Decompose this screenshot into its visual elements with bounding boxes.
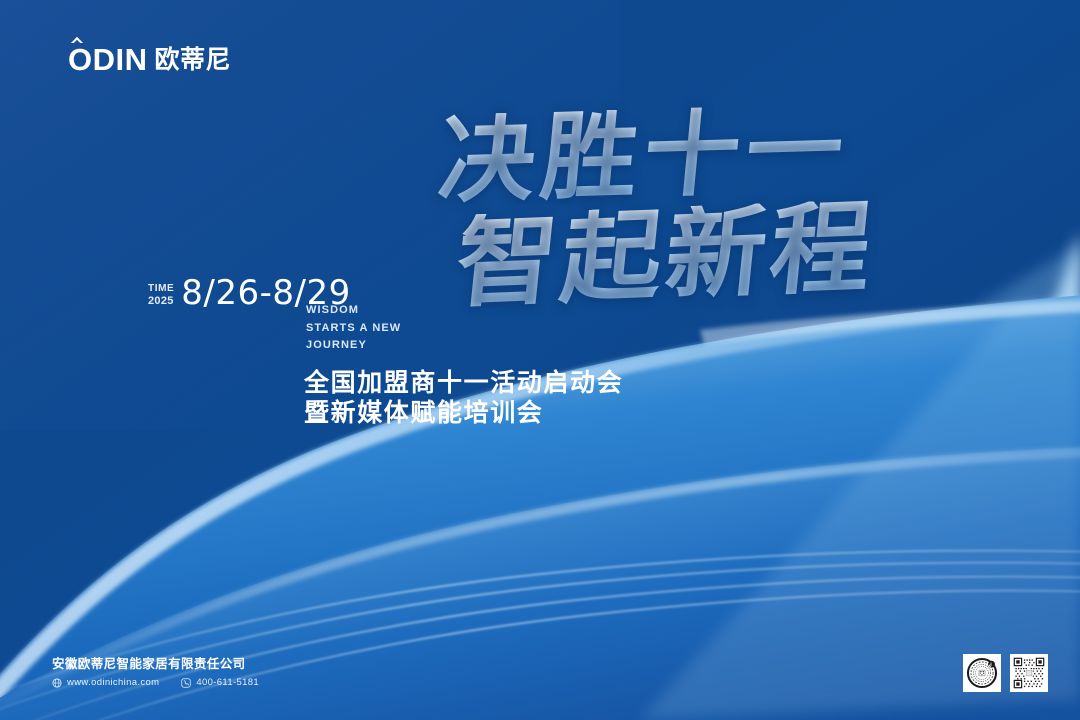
- brand-logo-text: ODIN: [68, 42, 148, 77]
- headline: 决胜十一 智起新程: [440, 108, 910, 302]
- phone-icon: [181, 678, 191, 688]
- phone-text: 400-611-5181: [196, 678, 259, 688]
- douyin-round-code[interactable]: [963, 654, 1001, 692]
- brand-logo: ODIN 欧蒂尼: [68, 44, 231, 75]
- event-subtitle: 全国加盟商十一活动启动会 暨新媒体赋能培训会: [304, 368, 623, 428]
- event-year: 2025: [148, 295, 174, 308]
- subtitle-line-1: 全国加盟商十一活动启动会: [304, 368, 623, 398]
- code-group: [963, 654, 1048, 692]
- subtitle-line-2: 暨新媒体赋能培训会: [304, 398, 623, 428]
- company-name: 安徽欧蒂尼智能家居有限责任公司: [52, 655, 259, 673]
- website-contact[interactable]: www.odinichina.com: [52, 678, 159, 688]
- tagline-line-3: JOURNEY: [306, 337, 401, 355]
- brand-logo-mark: ODIN: [68, 44, 148, 75]
- promotional-poster: ODIN 欧蒂尼 决胜十一 智起新程 TIME 2025 8/26-8/29 W…: [0, 0, 1080, 720]
- globe-icon: [52, 678, 62, 688]
- phone-contact[interactable]: 400-611-5181: [181, 678, 259, 688]
- footer: 安徽欧蒂尼智能家居有限责任公司 www.odinichina.com: [52, 655, 259, 688]
- wechat-qr-code[interactable]: [1010, 654, 1048, 692]
- time-label: TIME: [148, 283, 174, 295]
- time-label-stack: TIME 2025: [148, 283, 174, 308]
- tagline-line-1: WISDOM: [306, 302, 401, 320]
- tagline-line-2: STARTS A NEW: [306, 320, 401, 338]
- contact-info: www.odinichina.com 400-611-5181: [52, 678, 259, 688]
- headline-line-2: 智起新程: [452, 198, 916, 311]
- website-text: www.odinichina.com: [67, 678, 159, 688]
- english-tagline: WISDOM STARTS A NEW JOURNEY: [306, 302, 401, 355]
- brand-logo-cn: 欧蒂尼: [150, 47, 232, 72]
